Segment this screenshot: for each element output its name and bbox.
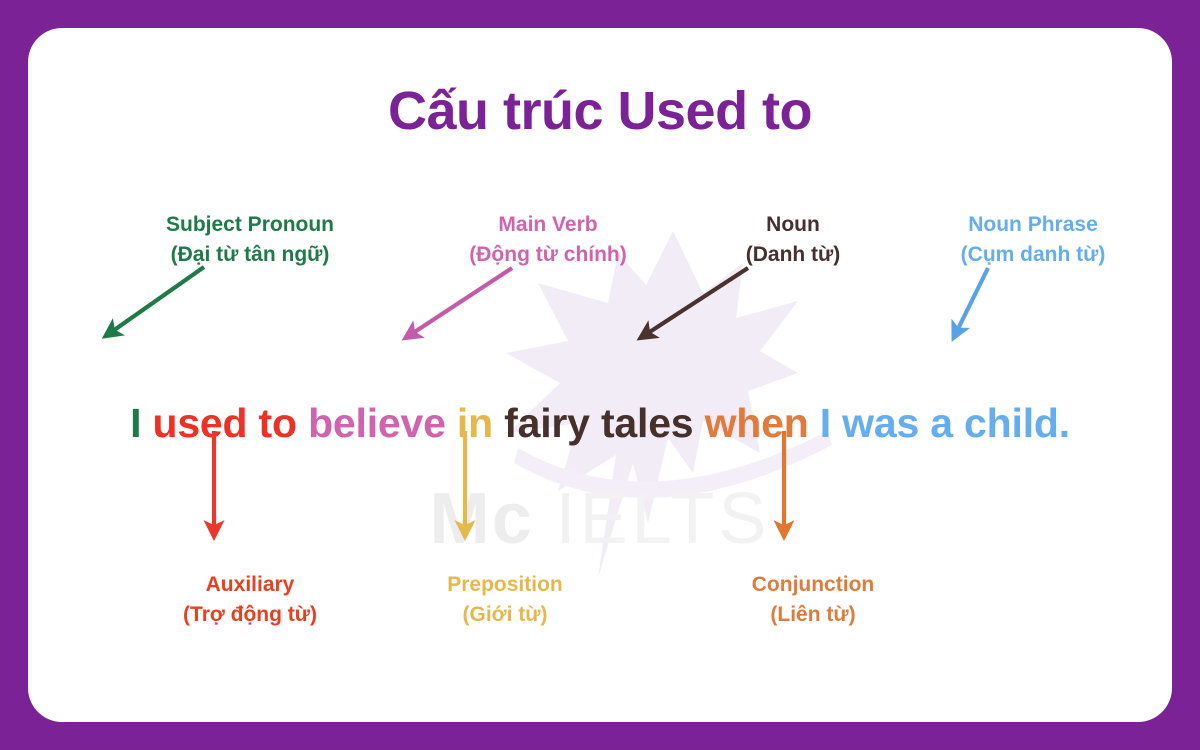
label-main-verb-english: Main Verb [498, 213, 597, 236]
label-main-verb: Main Verb (Động từ chính) [408, 210, 688, 270]
sentence-part-noun: fairy tales [504, 400, 693, 446]
sentence-part-noun-phrase: I was a child. [820, 400, 1070, 446]
label-auxiliary-english: Auxiliary [206, 573, 295, 596]
sentence-part-space [141, 400, 152, 446]
watermark-brand-bold: Mc [430, 479, 534, 559]
label-auxiliary: Auxiliary (Trợ động từ) [110, 570, 390, 630]
sentence-part-subject-pronoun: I [130, 400, 141, 446]
sentence-part-auxiliary: used to [152, 400, 296, 446]
sentence-part-space [809, 400, 820, 446]
main-verb-arrow [410, 268, 512, 335]
sentence-part-main-verb: believe [308, 400, 446, 446]
label-conjunction: Conjunction (Liên từ) [688, 570, 938, 630]
label-subject-pronoun-english: Subject Pronoun [166, 213, 334, 236]
sentence-part-preposition: in [457, 400, 493, 446]
subject-pronoun-arrow [110, 267, 204, 333]
sentence-part-space [493, 400, 504, 446]
sentence-part-space [446, 400, 457, 446]
label-auxiliary-vietnamese: (Trợ động từ) [110, 600, 390, 630]
label-conjunction-english: Conjunction [752, 573, 874, 596]
label-preposition-vietnamese: (Giới từ) [380, 600, 630, 630]
label-subject-pronoun-vietnamese: (Đại từ tân ngữ) [90, 240, 410, 270]
page-title: Cấu trúc Used to [28, 80, 1172, 142]
content-card: Mc IELTS Cấu trúc Used to Subject Pronou… [28, 28, 1172, 722]
label-conjunction-vietnamese: (Liên từ) [688, 600, 938, 630]
label-noun-phrase-vietnamese: (Cụm danh từ) [908, 240, 1158, 270]
watermark-brand-light: IELTS [556, 479, 771, 559]
sentence-part-space [693, 400, 704, 446]
label-noun-phrase-english: Noun Phrase [968, 213, 1098, 236]
label-noun: Noun (Danh từ) [683, 210, 903, 270]
label-subject-pronoun: Subject Pronoun (Đại từ tân ngữ) [90, 210, 410, 270]
sentence-part-conjunction: when [705, 400, 809, 446]
sentence-part-space [297, 400, 308, 446]
label-preposition: Preposition (Giới từ) [380, 570, 630, 630]
label-noun-english: Noun [766, 213, 820, 236]
label-preposition-english: Preposition [447, 573, 563, 596]
label-noun-phrase: Noun Phrase (Cụm danh từ) [908, 210, 1158, 270]
label-main-verb-vietnamese: (Động từ chính) [408, 240, 688, 270]
label-noun-vietnamese: (Danh từ) [683, 240, 903, 270]
noun-arrow [645, 268, 748, 335]
watermark: Mc IELTS [28, 483, 1172, 555]
noun-phrase-arrow [956, 268, 988, 333]
example-sentence: I used to believe in fairy tales when I … [28, 400, 1172, 447]
